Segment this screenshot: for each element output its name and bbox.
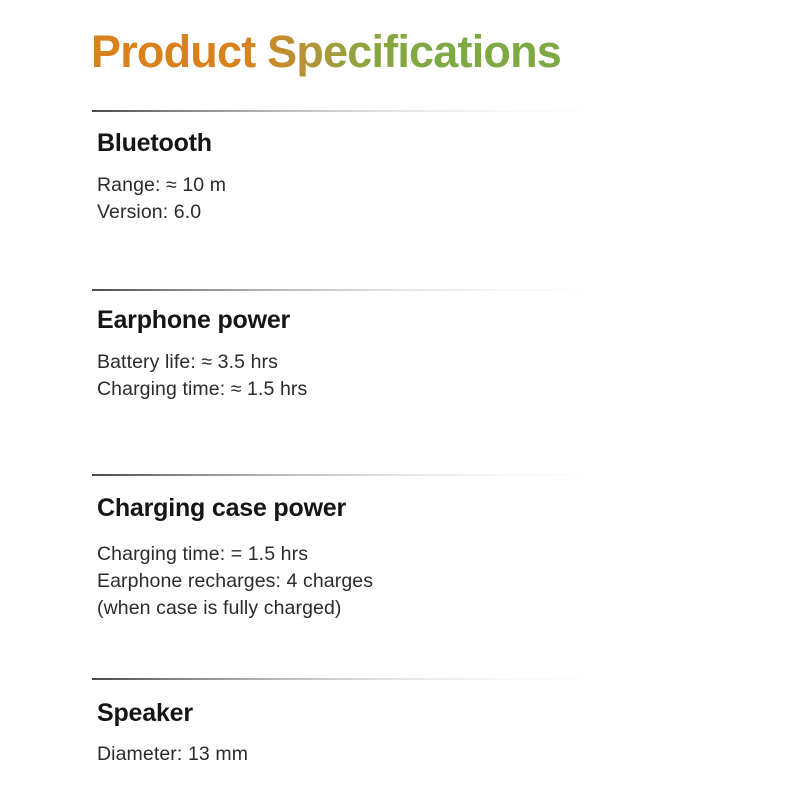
spec-line: Charging time: ≈ 1.5 hrs bbox=[97, 376, 307, 403]
section-body-speaker: Diameter: 13 mm bbox=[97, 741, 248, 768]
section-heading-bluetooth: Bluetooth bbox=[97, 128, 212, 158]
section-heading-earphone-power: Earphone power bbox=[97, 305, 290, 335]
product-specifications-sheet: Product Specifications Bluetooth Range: … bbox=[0, 0, 800, 800]
page-title: Product Specifications bbox=[91, 24, 561, 80]
section-divider bbox=[92, 474, 638, 476]
section-divider bbox=[92, 110, 638, 112]
spec-line: Range: ≈ 10 m bbox=[97, 172, 226, 199]
section-heading-charging-case-power: Charging case power bbox=[97, 493, 346, 523]
spec-line: Version: 6.0 bbox=[97, 199, 226, 226]
spec-line: Diameter: 13 mm bbox=[97, 741, 248, 768]
spec-line: (when case is fully charged) bbox=[97, 595, 373, 622]
spec-line: Earphone recharges: 4 charges bbox=[97, 568, 373, 595]
section-divider bbox=[92, 678, 638, 680]
section-divider bbox=[92, 289, 638, 291]
section-body-charging-case-power: Charging time: = 1.5 hrs Earphone rechar… bbox=[97, 541, 373, 622]
spec-line: Charging time: = 1.5 hrs bbox=[97, 541, 373, 568]
section-body-bluetooth: Range: ≈ 10 m Version: 6.0 bbox=[97, 172, 226, 226]
section-heading-speaker: Speaker bbox=[97, 698, 193, 728]
section-body-earphone-power: Battery life: ≈ 3.5 hrs Charging time: ≈… bbox=[97, 349, 307, 403]
spec-line: Battery life: ≈ 3.5 hrs bbox=[97, 349, 307, 376]
